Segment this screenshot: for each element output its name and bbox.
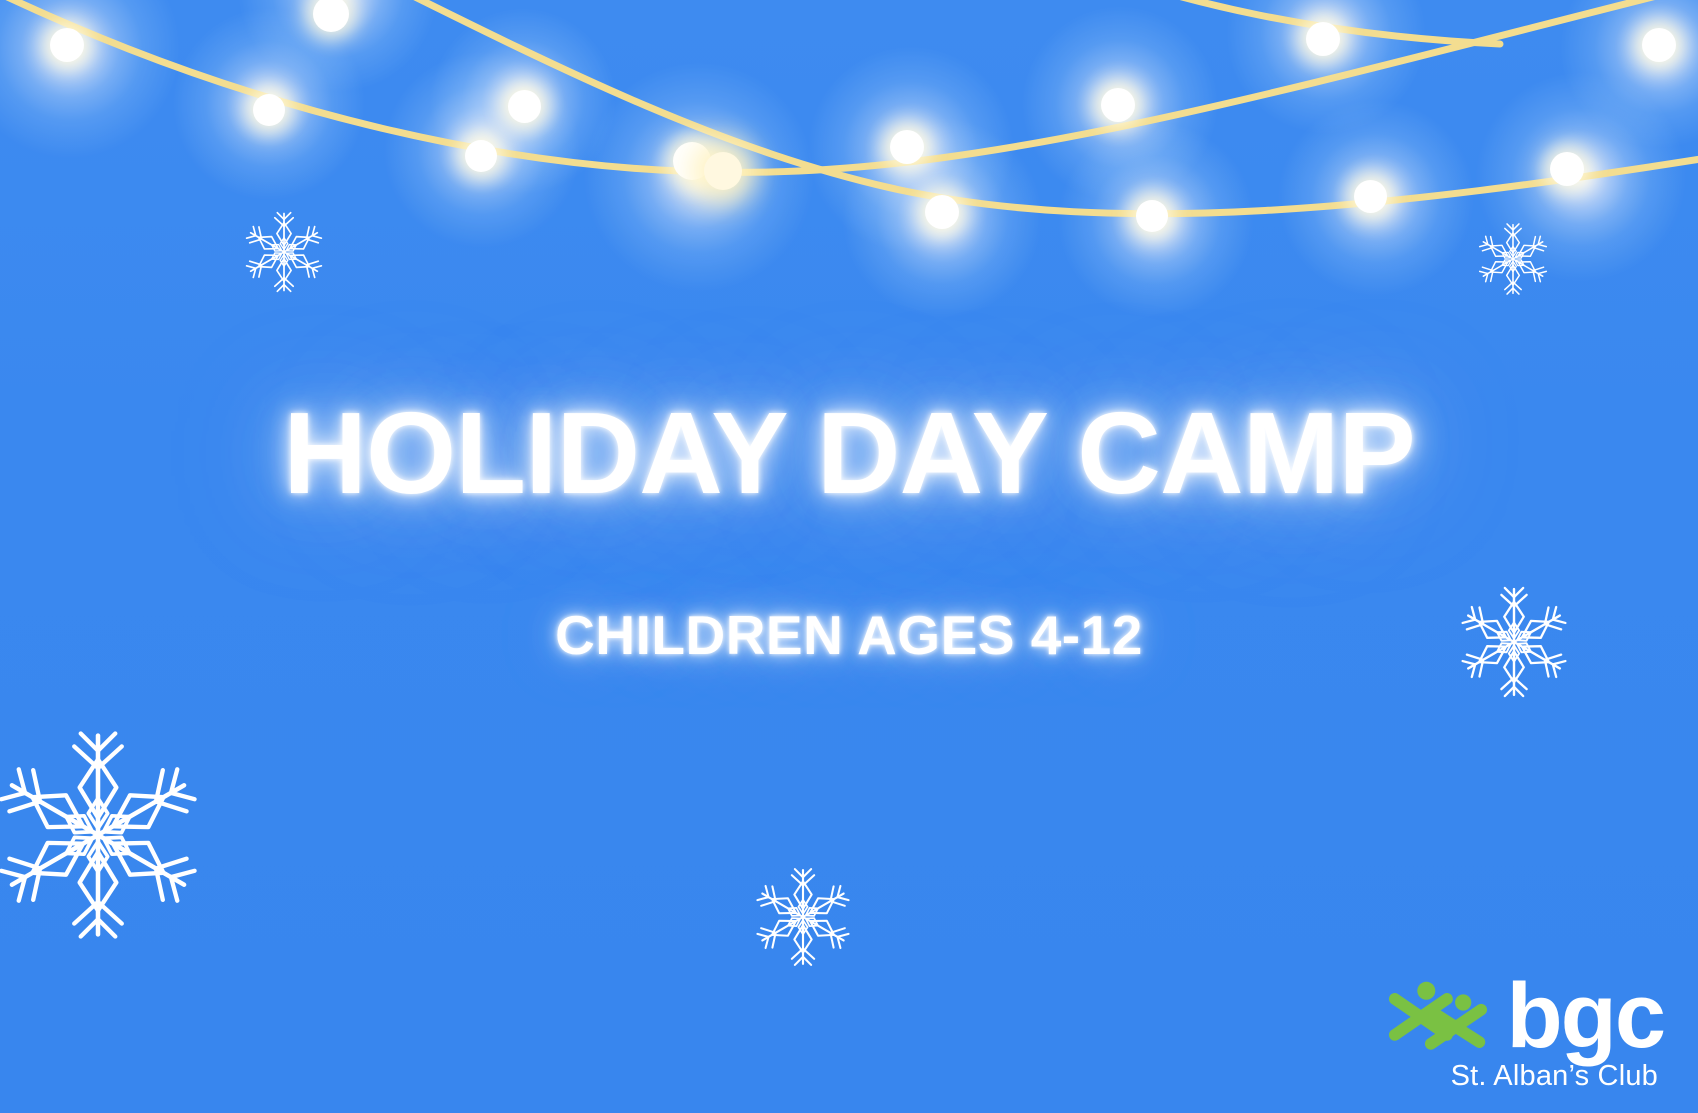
snowflake-medium-bottom-center	[748, 862, 858, 972]
brand-logo[interactable]: bgc St. Alban’s Club	[1274, 979, 1664, 1093]
light-bulb	[1101, 88, 1135, 122]
light-bulb	[50, 28, 84, 62]
page-subtitle: CHILDREN AGES 4-12	[555, 608, 1143, 663]
snowflake-medium-right	[1452, 580, 1576, 704]
headline-block: HOLIDAY DAY CAMP	[0, 395, 1698, 511]
snowflake-small-top-right	[1472, 218, 1554, 300]
light-bulb	[890, 130, 924, 164]
logo-tagline: St. Alban’s Club	[1274, 1060, 1664, 1093]
logo-lockup: bgc	[1274, 979, 1664, 1054]
snowflake-small-top-left	[238, 206, 330, 298]
light-bulb-warm	[704, 152, 742, 190]
light-bulb	[253, 94, 285, 126]
page-title: HOLIDAY DAY CAMP	[283, 395, 1414, 511]
poster-canvas: HOLIDAY DAY CAMP CHILDREN AGES 4-12	[0, 0, 1698, 1113]
snowflake-large-bottom-left	[0, 725, 208, 945]
light-bulb	[1354, 180, 1387, 213]
logo-wordmark: bgc	[1506, 979, 1664, 1054]
light-bulb	[465, 140, 497, 172]
subline-block: CHILDREN AGES 4-12	[0, 608, 1698, 663]
light-bulb	[925, 195, 959, 229]
light-bulb	[508, 90, 541, 123]
light-bulb	[1136, 200, 1168, 232]
bgc-people-mark-icon	[1384, 979, 1492, 1053]
light-bulb	[1306, 22, 1340, 56]
light-bulb	[1642, 28, 1676, 62]
light-bulb	[1550, 152, 1584, 186]
